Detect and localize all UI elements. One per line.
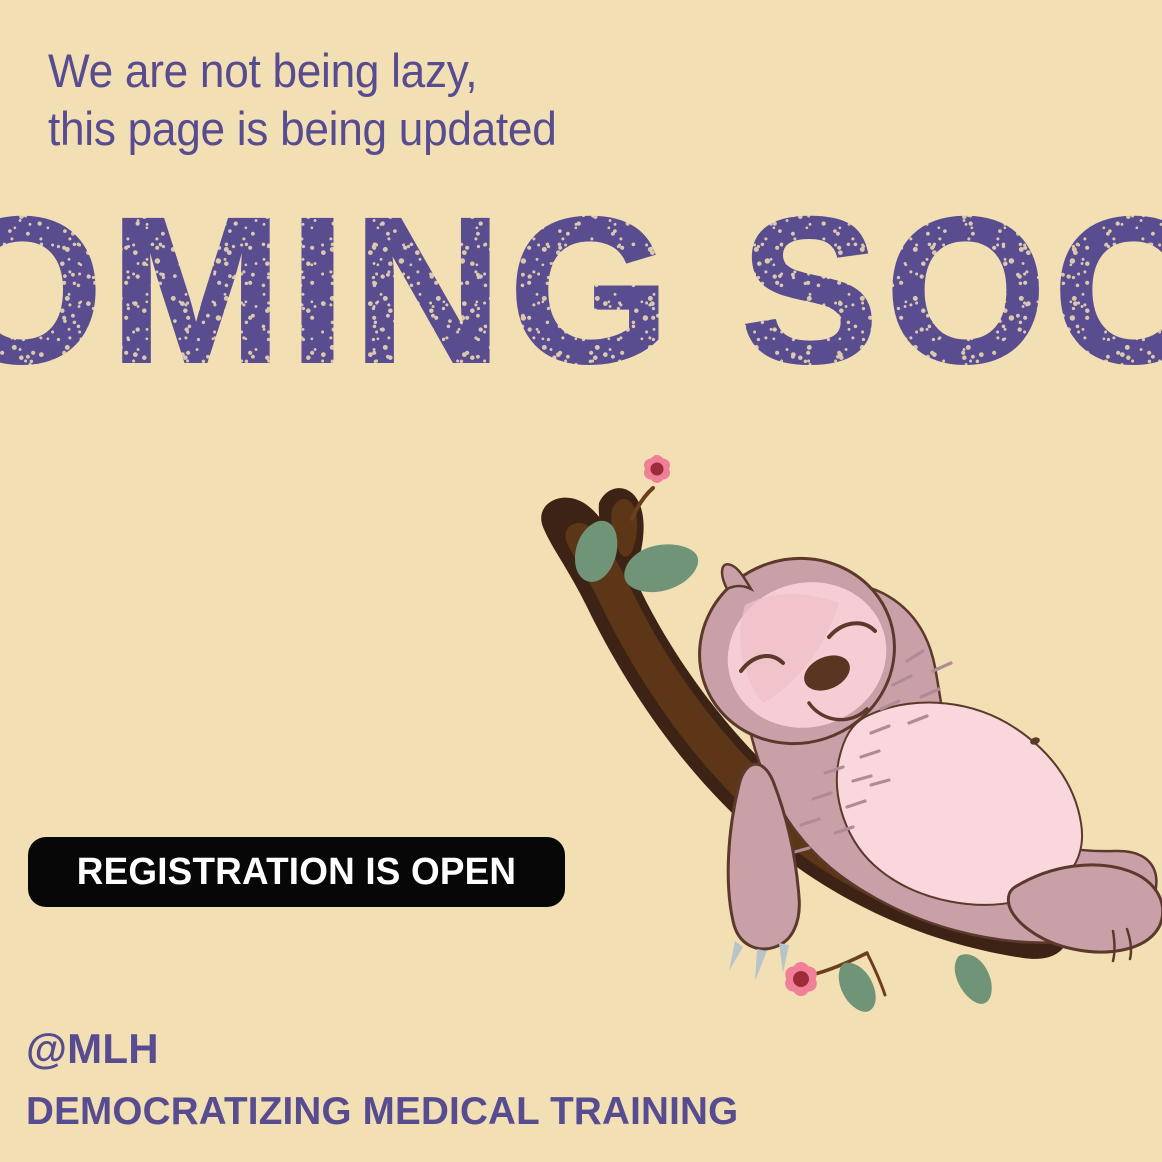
tagline: DEMOCRATIZING MEDICAL TRAINING: [26, 1090, 738, 1134]
social-handle: @MLH: [26, 1025, 159, 1073]
page-title: COMING SOON: [0, 196, 1162, 386]
coming-soon-poster: We are not being lazy, this page is bein…: [0, 0, 1162, 1162]
flower-bottom: [781, 961, 821, 997]
headline-container: COMING SOON: [0, 196, 1162, 386]
flower-top: [640, 455, 673, 484]
sloth-illustration: [495, 455, 1162, 1025]
intro-text: We are not being lazy, this page is bein…: [48, 42, 894, 159]
registration-badge-label: REGISTRATION IS OPEN: [77, 851, 516, 894]
registration-badge[interactable]: REGISTRATION IS OPEN: [28, 837, 565, 907]
leaf-bottom-left: [839, 963, 876, 1012]
leaf-bottom-right: [955, 954, 992, 1004]
